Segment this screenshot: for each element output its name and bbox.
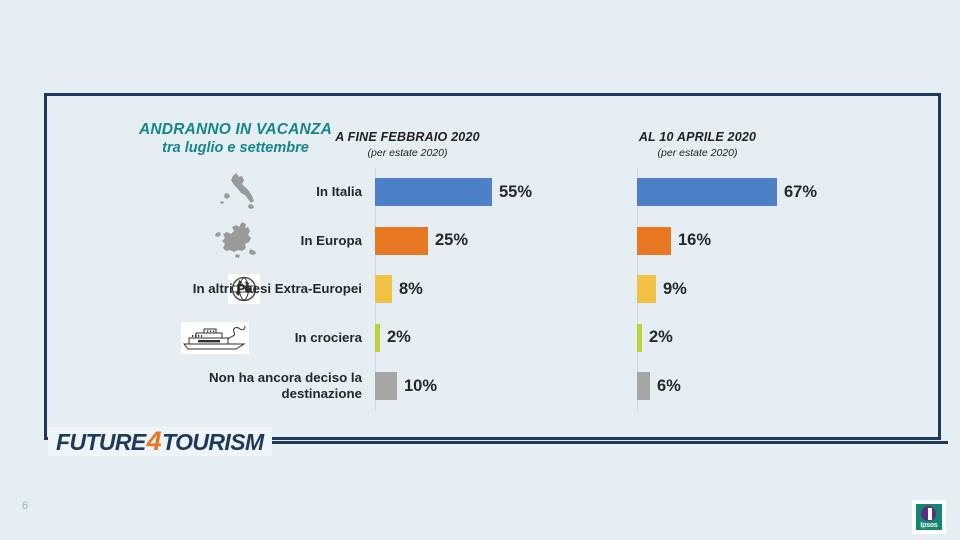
bar-february — [375, 324, 380, 352]
bar-group-february: 10% — [375, 362, 437, 411]
chart-row: In Europa 25% 16% — [0, 217, 960, 266]
bar-value-april: 6% — [657, 377, 681, 396]
bar-group-april: 6% — [637, 362, 681, 411]
bar-value-february: 8% — [399, 280, 423, 299]
logo-text-part2: TOURISM — [162, 429, 263, 455]
chart-row: Non ha ancora deciso la destinazione 10%… — [0, 362, 960, 411]
chart-row: In Italia 55% 67% — [0, 168, 960, 217]
row-icon-cell — [150, 314, 280, 363]
bar-group-february: 25% — [375, 217, 468, 266]
column-header-april-subtitle: (per estate 2020) — [590, 147, 805, 159]
bar-value-february: 2% — [387, 328, 411, 347]
bar-group-april: 9% — [637, 265, 687, 314]
page-number: 6 — [22, 500, 28, 512]
bar-february — [375, 275, 392, 303]
bar-april — [637, 324, 642, 352]
cruise-ship-icon-box — [181, 322, 249, 354]
bar-april — [637, 275, 656, 303]
bar-april — [637, 372, 650, 400]
europe-map-icon — [212, 220, 260, 262]
chart-rows: In Italia 55% 67% — [0, 168, 960, 411]
bar-value-february: 25% — [435, 231, 468, 250]
bar-value-february: 55% — [499, 183, 532, 202]
column-header-february-subtitle: (per estate 2020) — [300, 147, 515, 159]
bar-february — [375, 372, 397, 400]
bar-group-february: 2% — [375, 314, 411, 363]
bar-value-april: 67% — [784, 183, 817, 202]
column-header-february-title: A FINE FEBBRAIO 2020 — [300, 130, 515, 144]
ipsos-wordmark: Ipsos — [916, 522, 942, 529]
globe-icon-box — [228, 274, 260, 304]
bar-group-april: 2% — [637, 314, 673, 363]
row-label-line1: Non ha ancora deciso la — [209, 370, 362, 386]
ipsos-logo: Ipsos — [912, 500, 946, 534]
chart-row: In altri Paesi Extra-Europei 8% 9% — [0, 265, 960, 314]
bar-february — [375, 227, 428, 255]
row-label-line2: destinazione — [209, 386, 362, 402]
row-label-line1: In Europa — [301, 233, 362, 249]
slide: ANDRANNO IN VACANZA tra luglio e settemb… — [0, 0, 960, 540]
bar-group-april: 16% — [637, 217, 711, 266]
bar-value-april: 16% — [678, 231, 711, 250]
cruise-ship-icon — [182, 323, 248, 353]
bar-group-february: 8% — [375, 265, 423, 314]
ipsos-tick-icon — [928, 508, 932, 520]
bar-value-april: 9% — [663, 280, 687, 299]
chart-row: In crociera 2% 2% — [0, 314, 960, 363]
bar-group-february: 55% — [375, 168, 532, 217]
bar-february — [375, 178, 492, 206]
row-icon-cell — [100, 217, 260, 266]
bar-april — [637, 178, 777, 206]
row-icon-cell — [100, 265, 298, 314]
logo-text-part1: FUTURE — [56, 429, 146, 455]
column-header-april: AL 10 APRILE 2020 (per estate 2020) — [590, 130, 805, 159]
globe-icon — [231, 276, 257, 302]
bar-april — [637, 227, 671, 255]
logo-text: FUTURE4TOURISM — [48, 427, 272, 456]
row-label: Non ha ancora deciso la destinazione — [120, 362, 368, 411]
bar-value-february: 10% — [404, 377, 437, 396]
bar-value-april: 2% — [649, 328, 673, 347]
column-header-april-title: AL 10 APRILE 2020 — [590, 130, 805, 144]
ipsos-mark-icon: Ipsos — [916, 504, 942, 530]
row-label-line1: In crociera — [295, 330, 362, 346]
future4tourism-logo: FUTURE4TOURISM — [48, 424, 272, 458]
column-header-february: A FINE FEBBRAIO 2020 (per estate 2020) — [300, 130, 515, 159]
bar-group-april: 67% — [637, 168, 817, 217]
row-label-line1: In Italia — [316, 184, 362, 200]
logo-rule — [258, 441, 948, 444]
row-icon-cell — [100, 168, 260, 217]
italy-map-icon — [216, 171, 260, 213]
logo-accent-four: 4 — [146, 426, 162, 456]
